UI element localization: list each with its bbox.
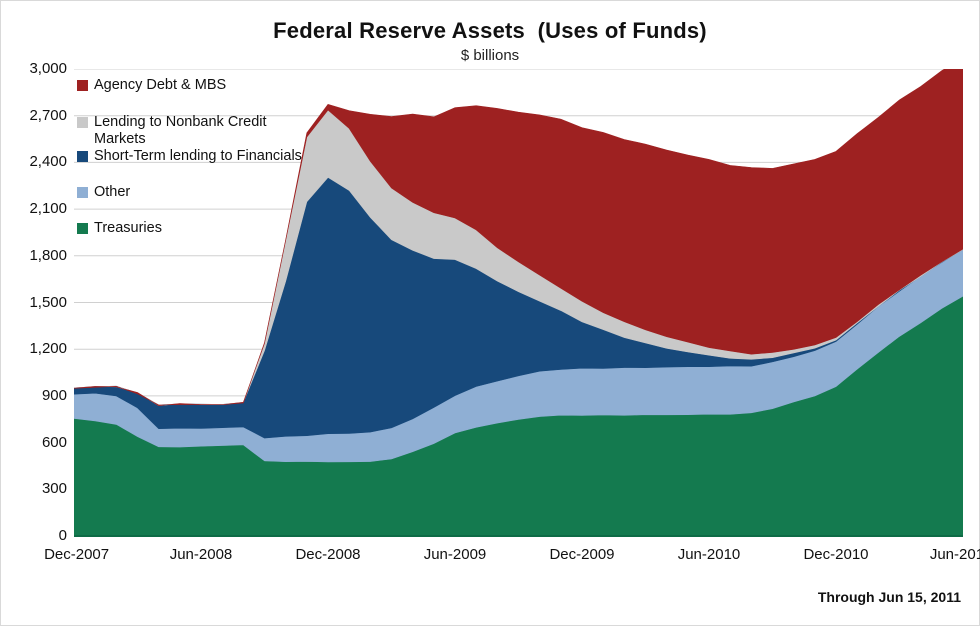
y-axis-tick-label: 0 [5, 528, 67, 543]
legend-swatch-lending-nonbank [77, 117, 88, 128]
legend-item-label: Treasuries [94, 220, 162, 237]
legend-item[interactable]: Treasuries [77, 220, 377, 237]
y-axis-tick-label: 900 [5, 388, 67, 403]
y-axis-tick-label: 300 [5, 481, 67, 496]
x-axis-line [74, 535, 963, 537]
y-axis-tick-label: 1,800 [5, 248, 67, 263]
legend-item-label: Short-Term lending to Financials [94, 148, 302, 165]
y-axis-tick-label: 2,100 [5, 201, 67, 216]
chart-subtitle: $ billions [1, 47, 979, 64]
y-axis-tick-label: 1,200 [5, 341, 67, 356]
y-axis-tick-label: 3,000 [5, 61, 67, 76]
x-axis-tick-label: Jun-2010 [678, 546, 741, 563]
legend-swatch-agency-debt-mbs [77, 80, 88, 91]
legend-item-label: Agency Debt & MBS [94, 77, 226, 94]
y-axis-tick-label: 2,400 [5, 154, 67, 169]
legend-item-label: Lending to Nonbank Credit Markets [94, 114, 294, 148]
legend-item[interactable]: Lending to Nonbank Credit Markets [77, 114, 377, 148]
chart-frame: Federal Reserve Assets (Uses of Funds) $… [0, 0, 980, 626]
x-axis-tick-label: Dec-2010 [803, 546, 868, 563]
x-axis-tick-label: Dec-2008 [295, 546, 360, 563]
x-axis-tick-label: Jun-2011 [930, 546, 980, 563]
x-axis-tick-label: Jun-2008 [170, 546, 233, 563]
legend-item[interactable]: Other [77, 184, 377, 201]
chart-title: Federal Reserve Assets (Uses of Funds) [1, 18, 979, 44]
y-axis-tick-label: 2,700 [5, 108, 67, 123]
y-axis-tick-label: 600 [5, 435, 67, 450]
x-axis: Dec-2007Jun-2008Dec-2008Jun-2009Dec-2009… [74, 544, 963, 566]
legend-swatch-treasuries [77, 223, 88, 234]
legend-item[interactable]: Short-Term lending to Financials [77, 148, 377, 165]
x-axis-tick-label: Jun-2009 [424, 546, 487, 563]
legend-swatch-other [77, 187, 88, 198]
y-axis-tick-label: 1,500 [5, 295, 67, 310]
chart-legend: Agency Debt & MBSLending to Nonbank Cred… [77, 77, 377, 237]
legend-swatch-short-term-lending [77, 151, 88, 162]
legend-item[interactable]: Agency Debt & MBS [77, 77, 377, 94]
footnote: Through Jun 15, 2011 [818, 589, 961, 605]
x-axis-tick-label: Dec-2009 [549, 546, 614, 563]
legend-item-label: Other [94, 184, 130, 201]
x-axis-tick-label: Dec-2007 [44, 546, 109, 563]
